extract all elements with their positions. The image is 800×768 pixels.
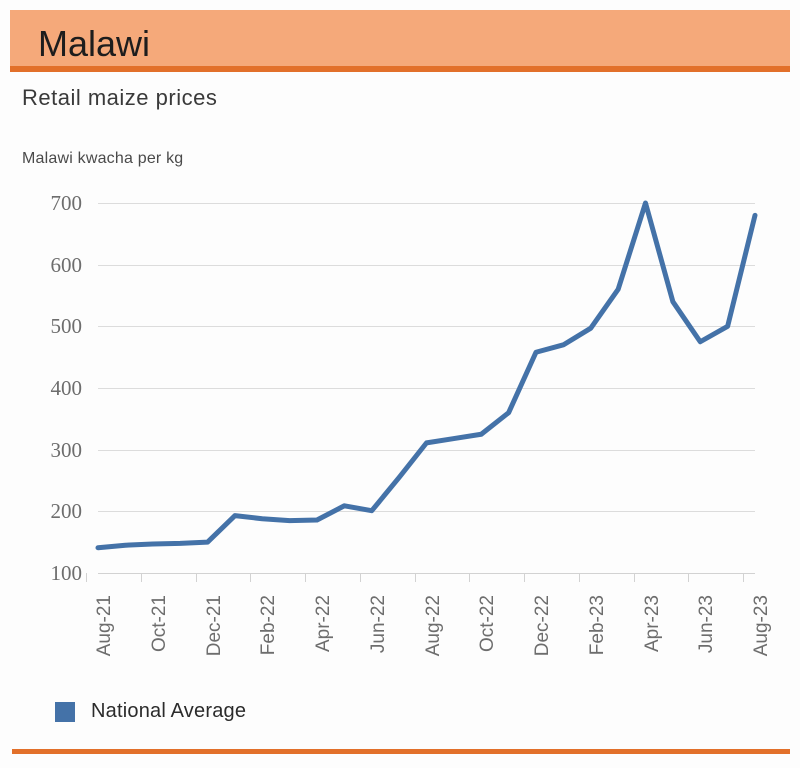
x-axis-tick-label: Dec-22 [532,595,554,656]
x-axis-tick-mark [141,573,142,582]
line-series-svg [0,185,800,595]
legend-item-label: National Average [91,700,246,723]
x-axis-tick-mark [360,573,361,582]
x-axis-tick-mark [743,573,744,582]
x-axis-label-group: Aug-21Oct-21Dec-21Feb-22Apr-22Jun-22Aug-… [0,595,800,705]
chart-subtitle: Retail maize prices [22,85,217,111]
x-axis-tick-label: Jun-23 [696,595,718,653]
footer-rule [12,749,790,754]
legend-swatch-icon [55,702,75,722]
x-axis-tick-label: Aug-23 [751,595,773,656]
x-axis-tick-label: Dec-21 [204,595,226,656]
x-axis-tick-label: Apr-22 [313,595,335,652]
x-axis-tick-marks [0,573,800,583]
x-axis-tick-mark [305,573,306,582]
x-axis-tick-label: Aug-21 [94,595,116,656]
x-axis-tick-label: Feb-23 [587,595,609,655]
x-axis-tick-mark [579,573,580,582]
x-axis-tick-mark [196,573,197,582]
x-axis-tick-label: Apr-23 [642,595,664,652]
chart-plot-area: 100200300400500600700 [0,185,800,595]
x-axis-tick-mark [524,573,525,582]
x-axis-tick-mark [634,573,635,582]
header-underline [10,66,790,72]
x-axis-tick-label: Aug-22 [423,595,445,656]
chart-units-label: Malawi kwacha per kg [22,150,183,168]
x-axis-tick-label: Oct-21 [149,595,171,652]
x-axis-tick-mark [688,573,689,582]
x-axis-tick-label: Jun-22 [368,595,390,653]
page-title: Malawi [38,24,150,64]
x-axis-tick-mark [250,573,251,582]
x-axis-tick-label: Oct-22 [477,595,499,652]
chart-card: Malawi Retail maize prices Malawi kwacha… [0,0,800,768]
header-band: Malawi [10,10,790,66]
x-axis-tick-mark [469,573,470,582]
x-axis-tick-mark [415,573,416,582]
line-series-national-average [98,203,755,548]
chart-legend: National Average [55,700,246,723]
x-axis-tick-label: Feb-22 [258,595,280,655]
x-axis-tick-mark [86,573,87,582]
